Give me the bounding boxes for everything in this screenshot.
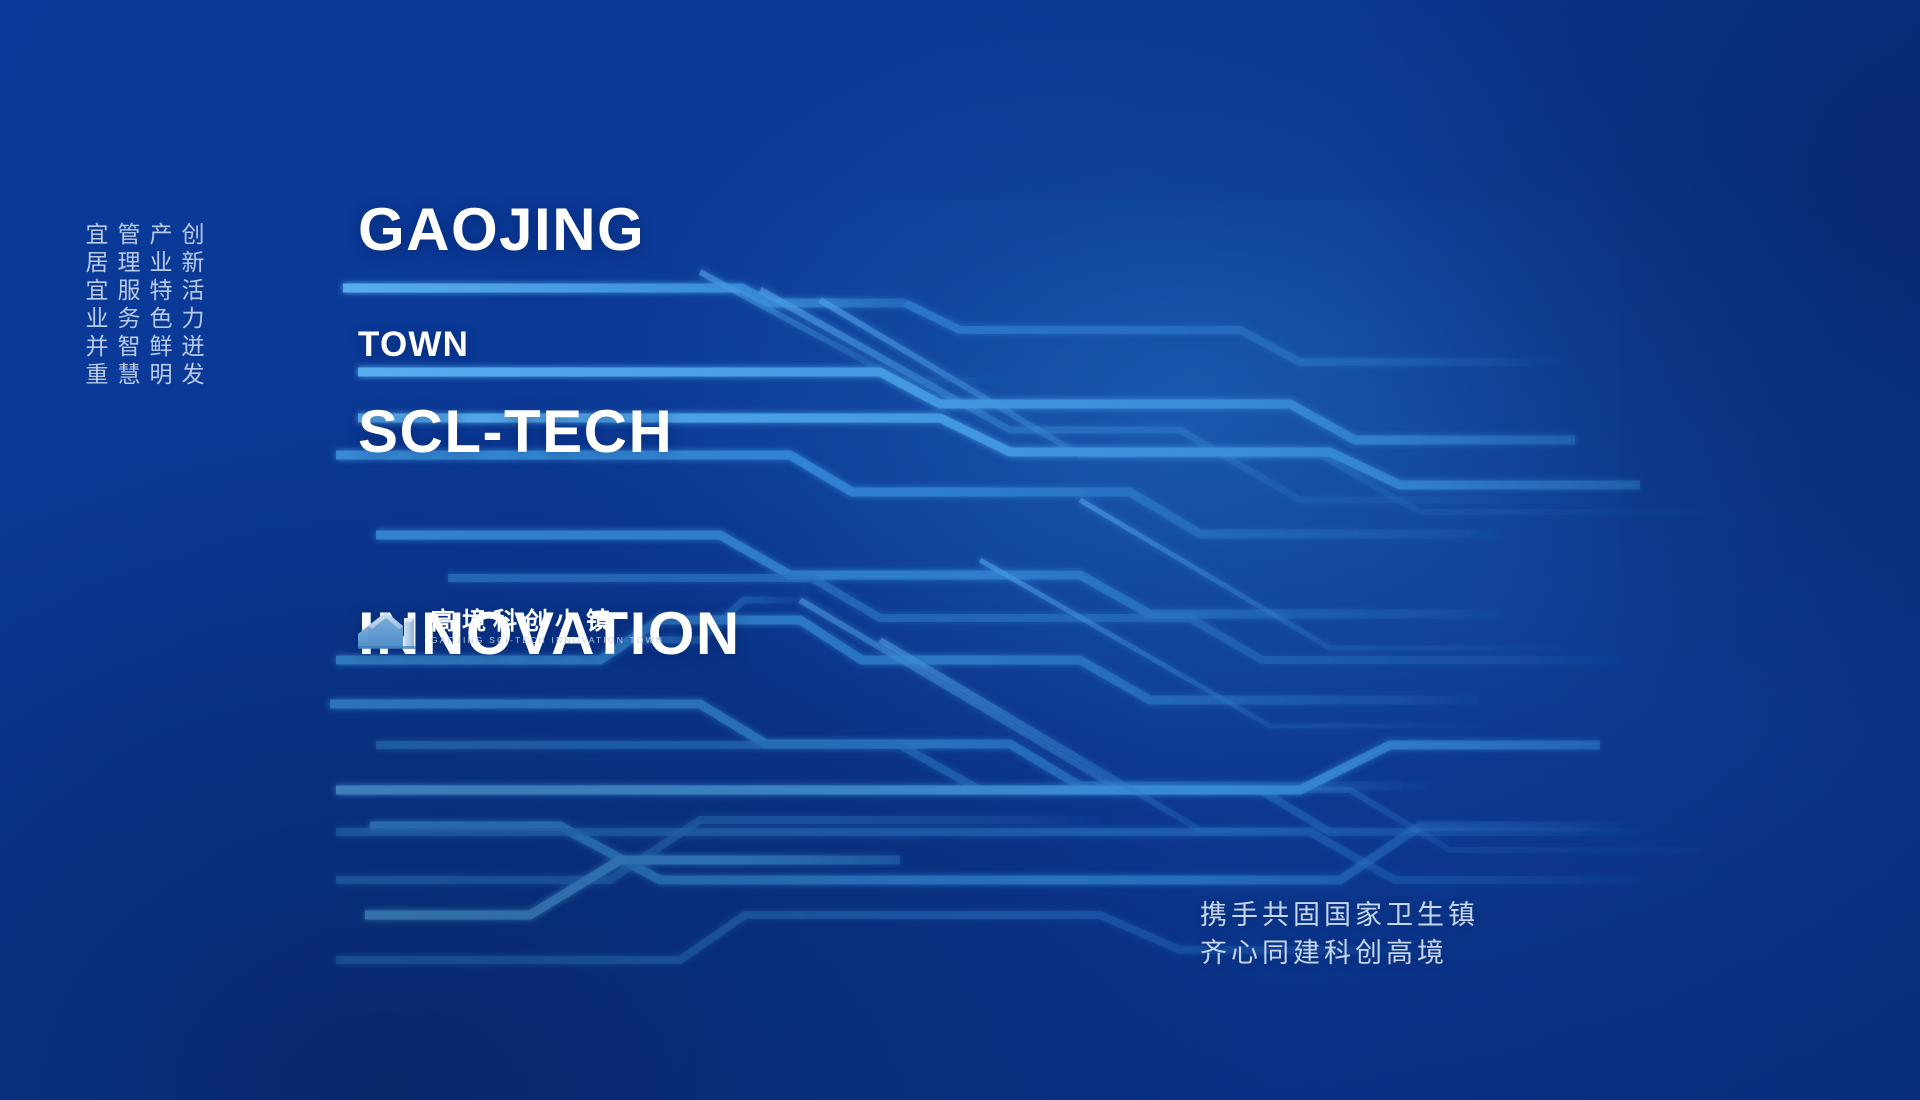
circuit-trace-artwork bbox=[0, 0, 1920, 1100]
title-line-2: SCL-TECH bbox=[358, 398, 741, 465]
vertical-slogan: 创新活力迸发 产业特色鲜明 管理服务智慧 宜居宜业并重 bbox=[82, 222, 201, 390]
vertical-slogan-column-3: 管理服务智慧 bbox=[114, 222, 137, 390]
page-title: GAOJING SCL-TECH INNOVATION bbox=[358, 62, 741, 801]
title-line-4: TOWN bbox=[358, 325, 469, 365]
logo-name-en: GAOJING SCI-TECH INNOVATION TOWN bbox=[431, 636, 664, 645]
poster-canvas: GAOJING SCL-TECH INNOVATION TOWN 创新活力迸发 … bbox=[0, 0, 1920, 1100]
vertical-slogan-column-4: 宜居宜业并重 bbox=[82, 222, 105, 390]
corner-slogan-line-2: 齐心同建科创高境 bbox=[1200, 935, 1479, 973]
logo-text-group: 高境科创小镇 GAOJING SCI-TECH INNOVATION TOWN bbox=[431, 609, 664, 645]
title-line-1: GAOJING bbox=[358, 196, 741, 263]
house-building-icon bbox=[356, 604, 418, 650]
logo-lockup: 高境科创小镇 GAOJING SCI-TECH INNOVATION TOWN bbox=[356, 604, 664, 650]
corner-slogan-line-1: 携手共固国家卫生镇 bbox=[1200, 897, 1479, 935]
logo-name-cn: 高境科创小镇 bbox=[431, 609, 664, 633]
vertical-slogan-column-2: 产业特色鲜明 bbox=[146, 222, 169, 390]
vertical-slogan-column-1: 创新活力迸发 bbox=[178, 222, 201, 390]
corner-slogan: 携手共固国家卫生镇 齐心同建科创高境 bbox=[1200, 897, 1479, 974]
